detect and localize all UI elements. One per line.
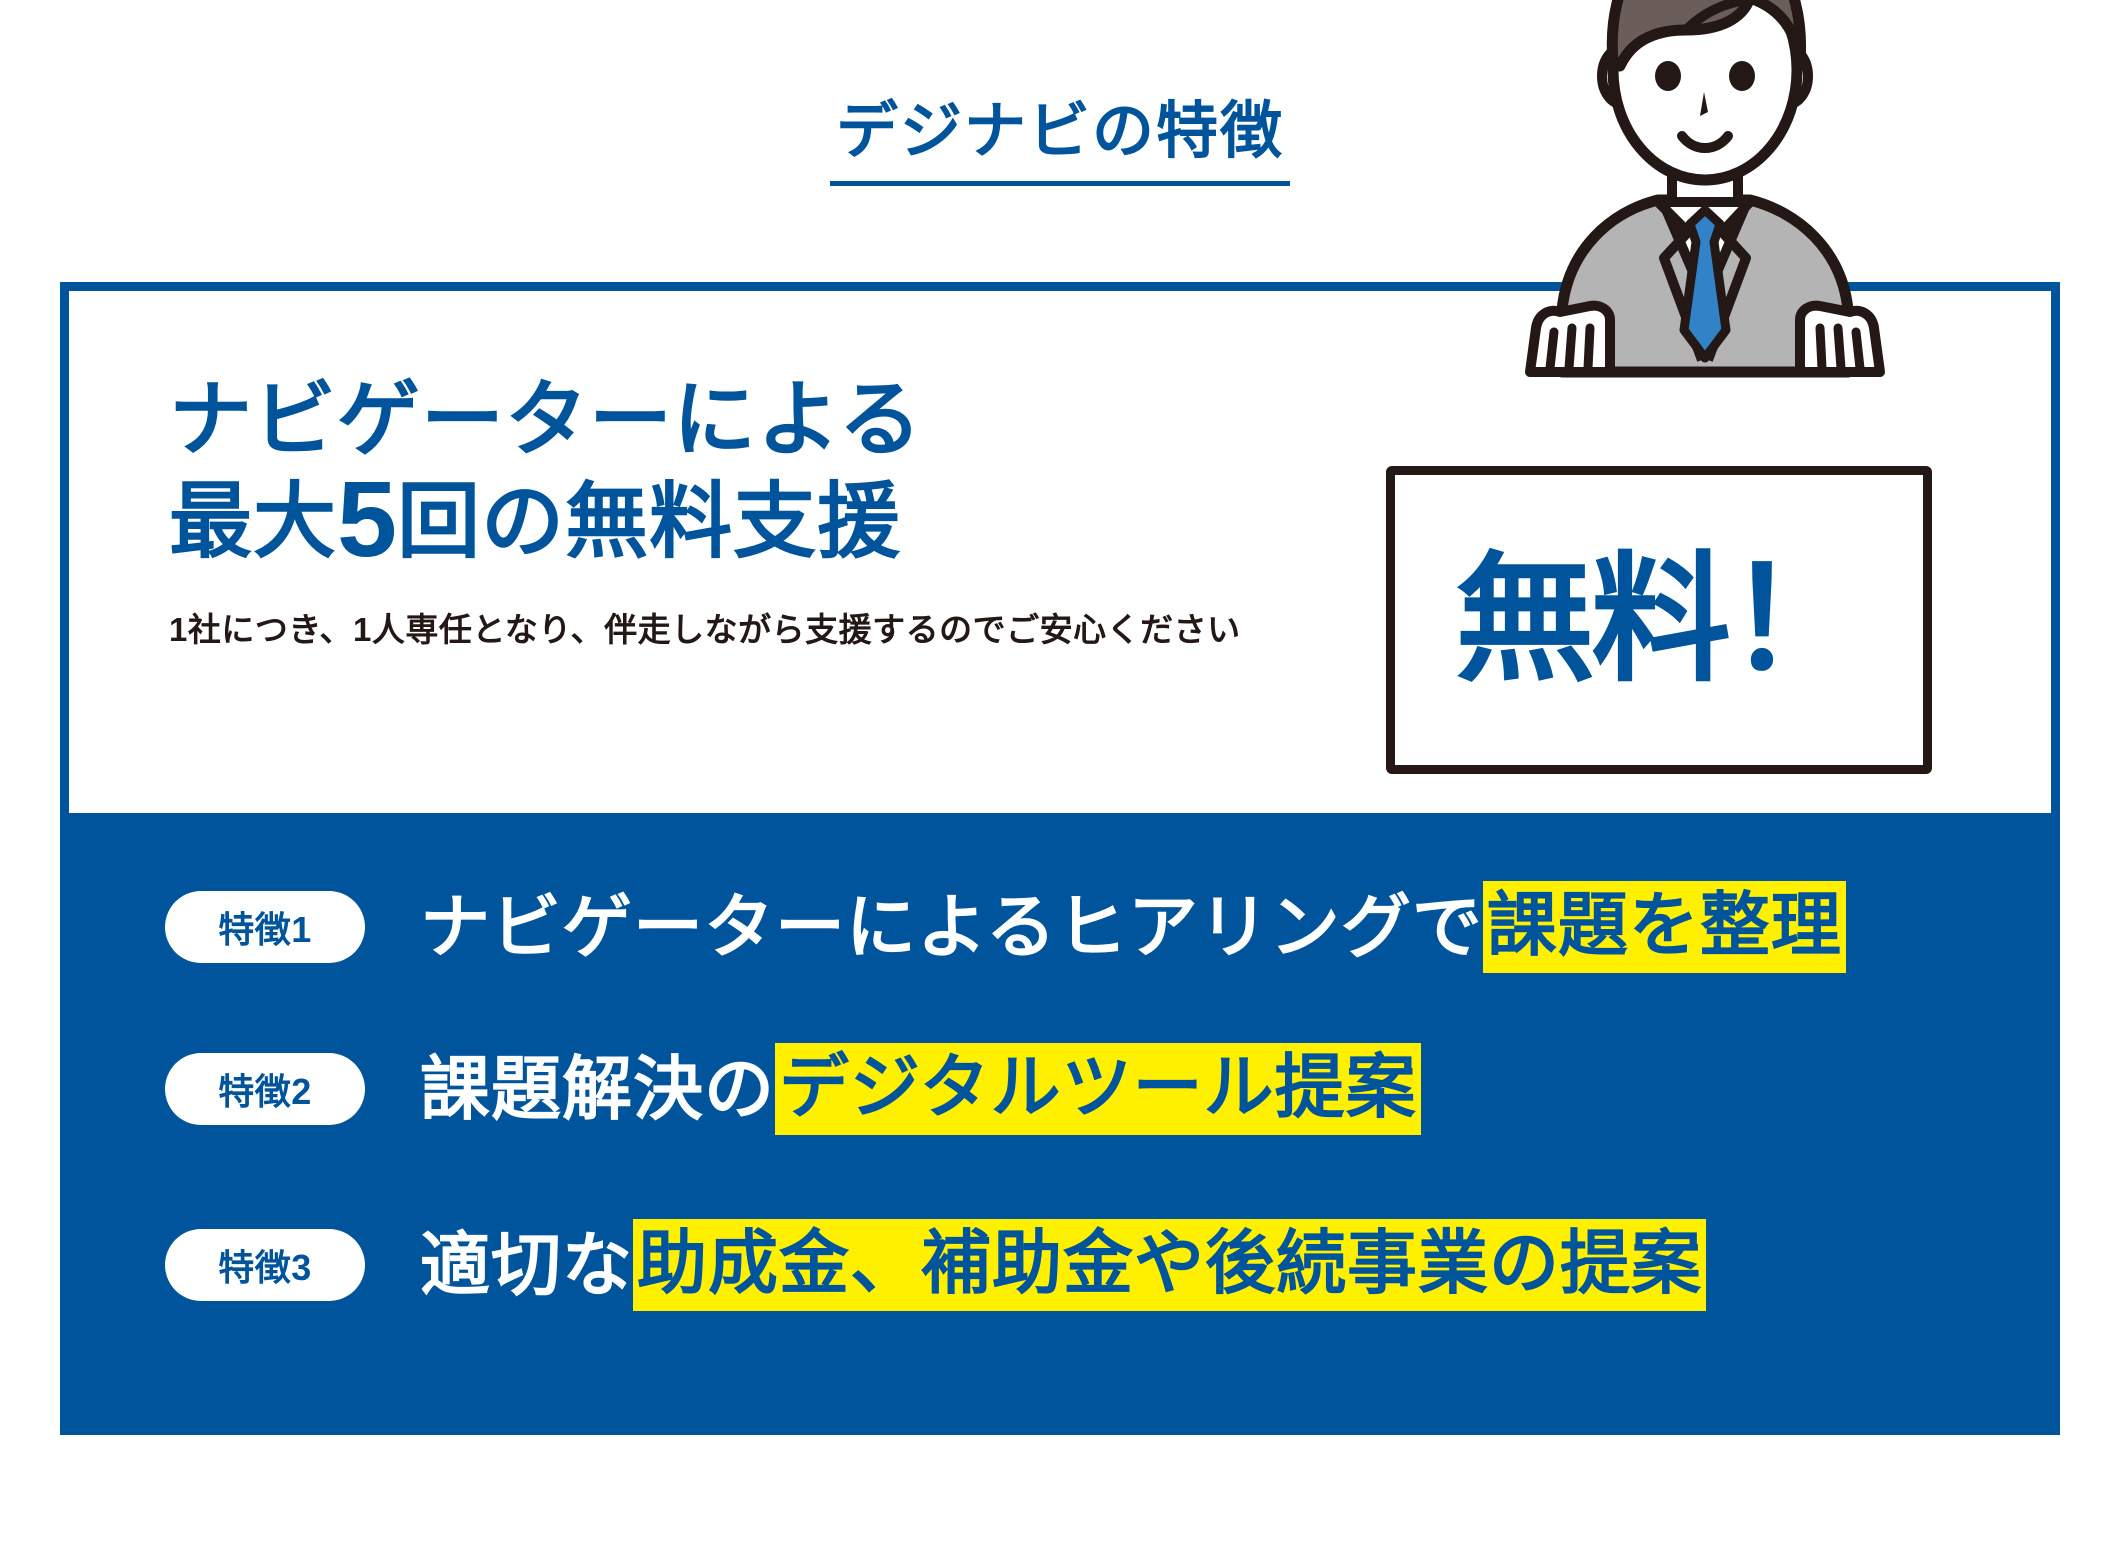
free-sign-board: 無料！ [1386, 466, 1932, 774]
headline-block: ナビゲーターによる 最大5回の無料支援 1社につき、1人専任となり、伴走しながら… [169, 369, 1349, 651]
feature-plain-text-2: 課題解決の [420, 1054, 775, 1124]
headline-line2-suffix: 回の無料支援 [397, 475, 901, 568]
eye-left [1655, 61, 1681, 91]
free-sign-text: 無料！ [1455, 550, 1863, 690]
feature-text-2: 課題解決のデジタルツール提案 [420, 1043, 1421, 1135]
feature-row: 特徴1 ナビゲーターによるヒアリングで課題を整理 [60, 872, 2060, 982]
hair [1612, 0, 1800, 66]
feature-row: 特徴2 課題解決のデジタルツール提案 [60, 1034, 2060, 1144]
slide-root: デジナビの特徴 ナビゲーターによる 最大5回の無料支援 1社につき、1人専任とな… [0, 0, 2120, 1556]
feature-row: 特徴3 適切な助成金、補助金や後続事業の提案 [60, 1210, 2060, 1320]
feature-badge-1: 特徴1 [165, 891, 365, 963]
page-title: デジナビの特徴 [830, 96, 1290, 186]
headline-line-2: 最大5回の無料支援 [169, 470, 1349, 572]
feature-text-1: ナビゲーターによるヒアリングで課題を整理 [420, 881, 1846, 973]
feature-plain-text-3: 適切な [420, 1230, 633, 1300]
section-title-container: デジナビの特徴 [0, 96, 2120, 186]
feature-highlight-text-1: 課題を整理 [1483, 881, 1846, 973]
feature-badge-2: 特徴2 [165, 1053, 365, 1125]
feature-card: ナビゲーターによる 最大5回の無料支援 1社につき、1人専任となり、伴走しながら… [60, 282, 2060, 1435]
hair-part [1686, 0, 1752, 30]
feature-badge-3: 特徴3 [165, 1229, 365, 1301]
feature-plain-text-1: ナビゲーターによるヒアリングで [420, 892, 1483, 962]
headline-subtext: 1社につき、1人専任となり、伴走しながら支援するのでご安心ください [169, 603, 1349, 651]
feature-highlight-text-2: デジタルツール提案 [775, 1043, 1421, 1135]
eye-right [1729, 61, 1755, 91]
headline-line2-prefix: 最大 [169, 475, 337, 568]
feature-highlight-text-3: 助成金、補助金や後続事業の提案 [633, 1219, 1706, 1311]
headline-line-1: ナビゲーターによる [169, 369, 1349, 470]
feature-text-3: 適切な助成金、補助金や後続事業の提案 [420, 1219, 1706, 1311]
headline-number: 5 [337, 458, 397, 579]
feature-list: 特徴1 ナビゲーターによるヒアリングで課題を整理 特徴2 課題解決のデジタルツー… [60, 842, 2060, 1435]
